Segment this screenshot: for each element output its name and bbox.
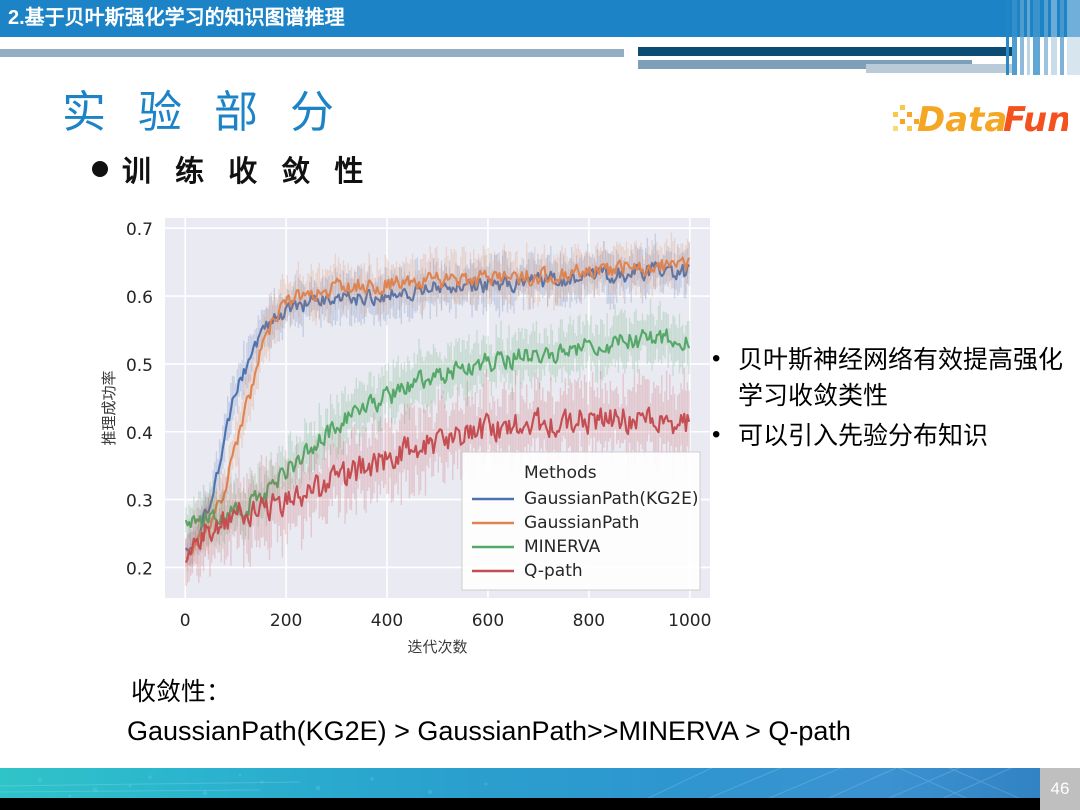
page-number: 46 bbox=[1040, 768, 1080, 810]
y-tick-label: 0.3 bbox=[126, 492, 153, 512]
bullet-dot-icon bbox=[92, 161, 108, 177]
svg-text:Data: Data bbox=[917, 100, 1007, 139]
datafun-logo: Data Fun. bbox=[893, 99, 1068, 139]
decor-band-navy bbox=[638, 47, 1013, 56]
x-tick-label: 800 bbox=[573, 611, 605, 631]
y-tick-label: 0.4 bbox=[126, 424, 153, 444]
x-tick-label: 200 bbox=[270, 611, 302, 631]
legend-label: GaussianPath(KG2E) bbox=[524, 489, 698, 509]
key-points-list: • 贝叶斯神经网络有效提高强化学习收敛类性 • 可以引入先验分布知识 bbox=[712, 342, 1072, 458]
bullet-text: 贝叶斯神经网络有效提高强化学习收敛类性 bbox=[738, 342, 1072, 414]
decor-band-steel-left bbox=[0, 49, 624, 57]
page-title: 实 验 部 分 bbox=[62, 76, 343, 140]
footer-black-strip bbox=[0, 798, 1080, 810]
y-tick-label: 0.6 bbox=[126, 288, 153, 308]
legend-label: MINERVA bbox=[524, 537, 601, 557]
legend-title: Methods bbox=[524, 463, 597, 483]
legend-label: GaussianPath bbox=[524, 513, 639, 533]
legend-label: Q-path bbox=[524, 561, 583, 581]
x-tick-label: 0 bbox=[180, 611, 191, 631]
bullet-marker: • bbox=[712, 418, 724, 454]
x-tick-label: 1000 bbox=[668, 611, 711, 631]
svg-text:Fun.: Fun. bbox=[1003, 100, 1068, 139]
footer-band bbox=[0, 768, 1080, 800]
y-axis-label: 推理成功率 bbox=[100, 370, 118, 445]
y-tick-label: 0.2 bbox=[126, 559, 153, 579]
footer-texture bbox=[0, 768, 1080, 800]
chart-legend: MethodsGaussianPath(KG2E)GaussianPathMIN… bbox=[462, 452, 700, 590]
section-heading-label: 训 练 收 敛 性 bbox=[122, 148, 370, 190]
bullet-marker: • bbox=[712, 342, 724, 414]
x-tick-label: 400 bbox=[371, 611, 403, 631]
decor-stripe-header-overlay bbox=[1006, 0, 1080, 37]
y-tick-label: 0.5 bbox=[126, 356, 153, 376]
bullet-text: 可以引入先验分布知识 bbox=[738, 418, 988, 454]
training-convergence-chart: 0.20.30.40.50.60.702004006008001000迭代次数推… bbox=[90, 198, 730, 673]
logo-dots-icon bbox=[893, 105, 919, 131]
header-title: 2.基于贝叶斯强化学习的知识图谱推理 bbox=[8, 6, 345, 31]
list-item: • 可以引入先验分布知识 bbox=[712, 418, 1072, 454]
x-axis-label: 迭代次数 bbox=[407, 638, 467, 656]
conclusion-label: 收敛性： bbox=[131, 672, 231, 708]
section-heading: 训 练 收 敛 性 bbox=[92, 148, 370, 190]
list-item: • 贝叶斯神经网络有效提高强化学习收敛类性 bbox=[712, 342, 1072, 414]
y-tick-label: 0.7 bbox=[126, 220, 153, 240]
x-tick-label: 600 bbox=[472, 611, 504, 631]
conclusion-ranking: GaussianPath(KG2E) > GaussianPath>>MINER… bbox=[127, 716, 851, 747]
decor-band-light bbox=[866, 64, 1013, 73]
